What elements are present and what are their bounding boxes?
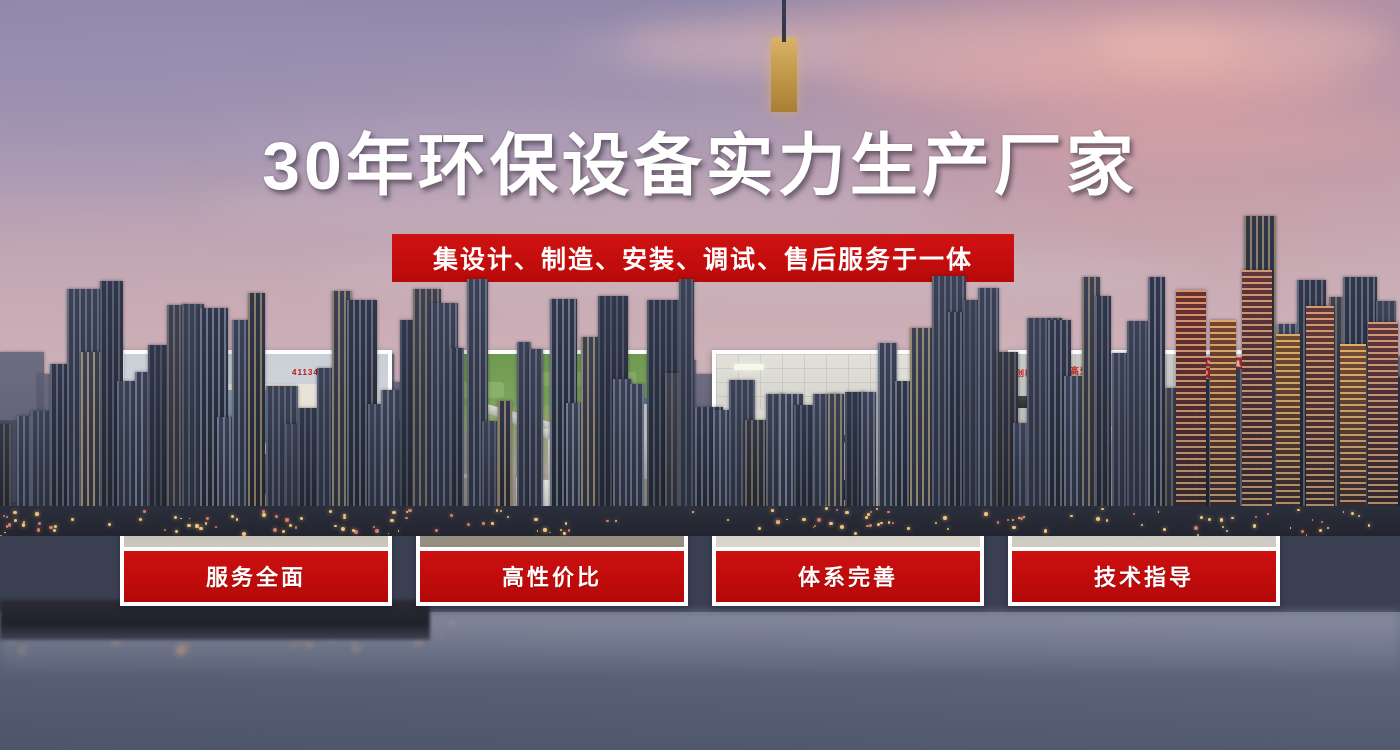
street-light [1220, 518, 1223, 521]
building [679, 279, 694, 514]
building [381, 390, 400, 514]
building [529, 349, 543, 514]
street-light [1007, 519, 1009, 521]
building [713, 410, 730, 514]
riverside-strip [0, 506, 1400, 536]
street-light [491, 522, 493, 524]
building [298, 408, 318, 514]
building [1127, 321, 1150, 514]
street-light [180, 518, 182, 520]
street-light [467, 523, 470, 526]
street-light [285, 518, 289, 522]
street-light [1253, 524, 1256, 527]
shoreline [0, 600, 430, 640]
street-light [405, 517, 407, 519]
building-windows [450, 348, 464, 514]
street-light [1343, 511, 1345, 513]
feature-card-label-text: 服务全面 [206, 560, 306, 592]
street-light [262, 513, 266, 517]
street-light [534, 518, 538, 522]
street-light [1163, 528, 1166, 531]
street-light [758, 527, 761, 530]
building-windows [828, 394, 844, 514]
illuminated-building [1276, 334, 1300, 520]
building [0, 424, 11, 514]
building-windows [679, 279, 694, 514]
feature-card-label-text: 体系完善 [798, 560, 898, 592]
building-windows [381, 390, 400, 514]
building-windows [31, 411, 51, 514]
tower-crown-light [771, 38, 797, 112]
building-windows [613, 379, 631, 515]
ceiling-light [734, 364, 764, 370]
street-light [814, 525, 816, 527]
building [248, 293, 265, 514]
building [148, 345, 168, 514]
street-light [1319, 529, 1322, 532]
page-title: 30年环保设备实力生产厂家 [0, 132, 1400, 200]
building [498, 401, 512, 514]
illuminated-building [1306, 306, 1334, 520]
street-light [289, 524, 292, 527]
street-light [390, 519, 393, 522]
street-light [54, 525, 57, 528]
building-windows [498, 401, 512, 514]
street-light [935, 522, 937, 524]
building [450, 348, 464, 514]
street-light [877, 523, 880, 526]
street-light [0, 535, 2, 537]
subtitle-banner: 集设计、制造、安装、调试、售后服务于一体 [392, 234, 1014, 282]
feature-card-label: 服务全面 [124, 551, 388, 602]
building-windows [713, 410, 730, 514]
street-light [195, 524, 198, 527]
building-windows [248, 293, 265, 514]
street-light [1297, 509, 1300, 512]
illuminated-building [1176, 290, 1206, 520]
promo-banner: 30年环保设备实力生产厂家 集设计、制造、安装、调试、售后服务于一体 中蒸机械 … [0, 0, 1400, 750]
street-light [199, 527, 202, 530]
street-light [888, 521, 891, 524]
building-windows [1127, 321, 1150, 514]
street-light [35, 512, 39, 516]
street-light [817, 518, 821, 522]
building [630, 384, 645, 514]
street-light [1267, 513, 1269, 515]
street-light [1197, 534, 1199, 536]
street-light [8, 523, 11, 526]
street-light [38, 522, 41, 525]
street-light [1208, 518, 1211, 521]
building-windows [1148, 277, 1164, 514]
street-light [563, 532, 566, 535]
street-light [206, 517, 209, 520]
street-light [887, 511, 889, 513]
street-light [482, 522, 484, 524]
street-light [49, 526, 53, 530]
street-light [1231, 517, 1233, 519]
building [861, 392, 876, 514]
feature-card-label: 高性价比 [420, 551, 684, 602]
illuminated-building [1340, 344, 1366, 520]
feature-card-label: 技术指导 [1012, 551, 1276, 602]
street-light [776, 520, 779, 523]
building-windows [148, 345, 168, 514]
street-light [771, 509, 774, 512]
street-light [373, 526, 375, 528]
street-light [984, 512, 988, 516]
street-light [1200, 516, 1203, 519]
street-light [907, 527, 909, 529]
street-light [1312, 519, 1314, 521]
street-light [880, 522, 882, 524]
street-light [71, 518, 74, 521]
street-light [997, 521, 999, 523]
tower-spire [782, 0, 786, 42]
building [1095, 296, 1111, 514]
building-windows [861, 392, 876, 514]
building-windows [482, 421, 497, 514]
building-windows [298, 408, 318, 514]
building-windows [1095, 296, 1111, 514]
street-light [829, 522, 832, 525]
building [1148, 277, 1164, 514]
feature-card-label-text: 技术指导 [1094, 560, 1194, 592]
illuminated-building [1210, 320, 1236, 520]
street-light [892, 522, 894, 524]
street-light [334, 525, 336, 527]
building [482, 421, 497, 514]
street-light [1301, 530, 1304, 533]
building [31, 411, 51, 514]
street-light [343, 514, 345, 516]
illuminated-building [1368, 322, 1398, 520]
street-light [865, 516, 868, 519]
subtitle-text: 集设计、制造、安装、调试、售后服务于一体 [433, 240, 973, 276]
street-light [1012, 526, 1015, 529]
street-light [329, 510, 332, 513]
street-light [1096, 517, 1100, 521]
street-light [6, 516, 8, 518]
street-light [375, 529, 379, 533]
street-light [450, 514, 453, 517]
building-windows [0, 424, 11, 514]
street-light [615, 520, 617, 522]
street-light [1255, 516, 1257, 518]
street-light [1368, 524, 1370, 526]
feature-card-label-text: 高性价比 [502, 560, 602, 592]
street-light [352, 529, 355, 532]
street-light [1358, 515, 1360, 517]
building [828, 394, 844, 514]
building-windows [529, 349, 543, 514]
street-light [1106, 519, 1108, 521]
street-light [943, 516, 946, 519]
street-light [1306, 534, 1308, 536]
feature-card-label: 体系完善 [716, 551, 980, 602]
building-windows [630, 384, 645, 514]
street-light [143, 510, 146, 513]
street-light [1226, 530, 1228, 532]
illuminated-building [1242, 270, 1272, 520]
street-light [568, 529, 570, 531]
street-light [37, 528, 41, 532]
building [613, 379, 631, 515]
street-light [406, 511, 408, 513]
street-light [187, 524, 191, 528]
street-light [543, 528, 546, 531]
street-light [282, 530, 285, 533]
street-light [242, 532, 246, 536]
